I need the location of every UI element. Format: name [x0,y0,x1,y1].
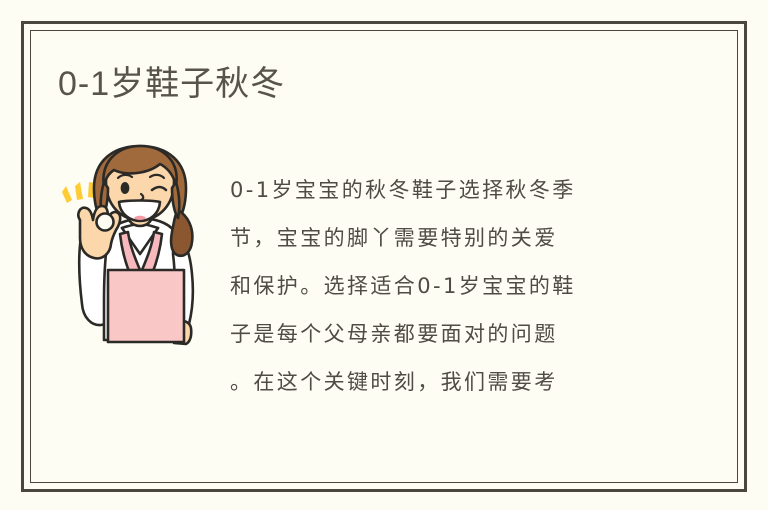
ok-ring [97,214,114,231]
body-line: 节，宝宝的脚丫需要特别的关爱 [230,214,672,262]
apron [108,270,184,342]
body-line: 子是每个父母亲都要面对的问题 [230,310,672,358]
article-body: 0-1岁宝宝的秋冬鞋子选择秋冬季 节，宝宝的脚丫需要特别的关爱 和保护。选择适合… [230,166,672,406]
body-line: 和保护。选择适合0-1岁宝宝的鞋 [230,262,672,310]
cartoon-woman-ok-gesture-illustration [56,142,216,348]
left-eye [121,182,130,194]
ponytail [171,210,192,256]
sparkle-icon [62,182,95,203]
page-title: 0-1岁鞋子秋冬 [58,62,285,106]
body-line: 0-1岁宝宝的秋冬鞋子选择秋冬季 [230,166,672,214]
body-line: 。在这个关键时刻，我们需要考 [230,358,672,406]
article-card: 0-1岁鞋子秋冬 [0,0,768,510]
